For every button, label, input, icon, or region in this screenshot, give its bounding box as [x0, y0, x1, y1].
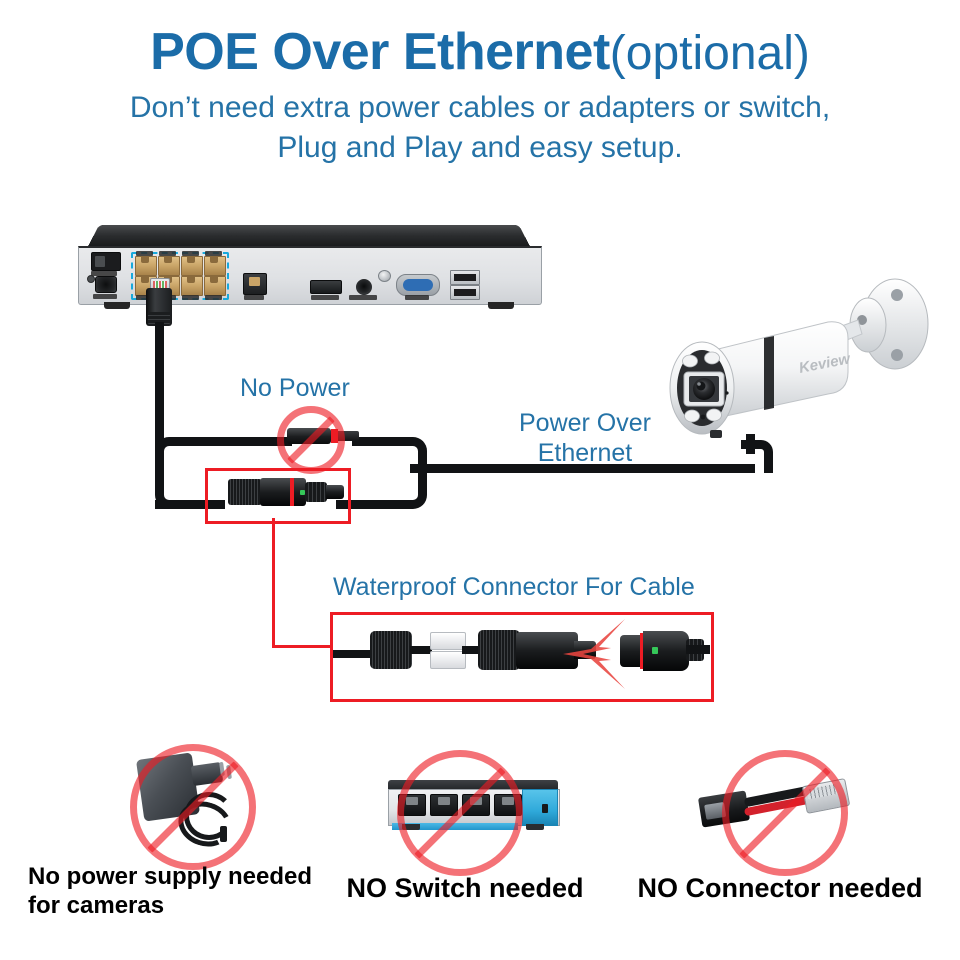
- page-subtitle: Don’t need extra power cables or adapter…: [0, 88, 960, 167]
- no-switch-prohibition-icon: [397, 750, 523, 876]
- header: POE Over Ethernet(optional) Don’t need e…: [0, 26, 960, 167]
- no-connector-prohibition-icon: [722, 750, 848, 876]
- wp-male-ribbed: [478, 630, 520, 670]
- poe-port-7: [181, 276, 203, 296]
- no-power-prohibition-icon: [277, 406, 345, 474]
- caption-no-power-supply-line1: No power supply needed: [28, 862, 328, 891]
- caption-no-connector: NO Connector needed: [612, 872, 948, 905]
- waterproof-connector-assembly: [352, 627, 697, 681]
- wp-seal-lower: [430, 651, 466, 669]
- usb-port-bottom-icon: [450, 285, 480, 300]
- poe-port-8: [204, 276, 226, 296]
- power-over-ethernet-label: Power Over Ethernet: [519, 409, 651, 468]
- dc-power-jack-icon: [95, 276, 117, 293]
- rj45-plug-icon: [146, 278, 172, 326]
- callout-line-horizontal: [272, 645, 332, 648]
- waterproof-connector-callout-box: [205, 468, 351, 524]
- poe-port-2: [158, 256, 180, 276]
- no-power-label: No Power: [240, 374, 350, 403]
- callout-line-vertical: [272, 518, 275, 648]
- page-title: POE Over Ethernet(optional): [0, 26, 960, 78]
- ground-screw-icon: [87, 275, 95, 283]
- cable-segment-upper-horizontal-a: [176, 437, 292, 446]
- lan-port-icon: [243, 273, 267, 295]
- waterproof-cable-right: [686, 645, 710, 654]
- caption-no-power-supply-line2: for cameras: [28, 891, 328, 920]
- power-switch-icon: [91, 252, 121, 271]
- wp-left-nut: [370, 631, 412, 669]
- connect-arrow-icon: [555, 615, 633, 693]
- poe-port-4: [204, 256, 226, 276]
- poe-port-1: [135, 256, 157, 276]
- usb-port-top-icon: [450, 270, 480, 285]
- waterproof-section-title: Waterproof Connector For Cable: [333, 573, 695, 602]
- nvr-foot-left: [104, 302, 130, 309]
- vga-screw-icon: [378, 270, 391, 282]
- caption-no-power-supply: No power supply needed for cameras: [28, 862, 328, 921]
- wp-seal-upper: [430, 632, 466, 650]
- wp-female-body: [643, 631, 689, 671]
- bullet-camera-image: Keview: [652, 276, 942, 476]
- poe-port-3: [181, 256, 203, 276]
- page-title-optional: (optional): [610, 27, 810, 80]
- audio-port-icon: [356, 279, 372, 295]
- poe-label-line2: Ethernet: [519, 439, 651, 469]
- hdmi-port-icon: [310, 280, 342, 294]
- no-adapter-prohibition-icon: [130, 744, 256, 870]
- page-subtitle-line2: Plug and Play and easy setup.: [0, 128, 960, 168]
- poe-label-line1: Power Over: [519, 409, 651, 439]
- caption-no-switch: NO Switch needed: [330, 872, 600, 905]
- page-title-bold: POE Over Ethernet: [150, 23, 610, 81]
- vga-port-icon: [396, 274, 440, 296]
- page-subtitle-line1: Don’t need extra power cables or adapter…: [0, 88, 960, 128]
- nvr-foot-right: [488, 302, 514, 309]
